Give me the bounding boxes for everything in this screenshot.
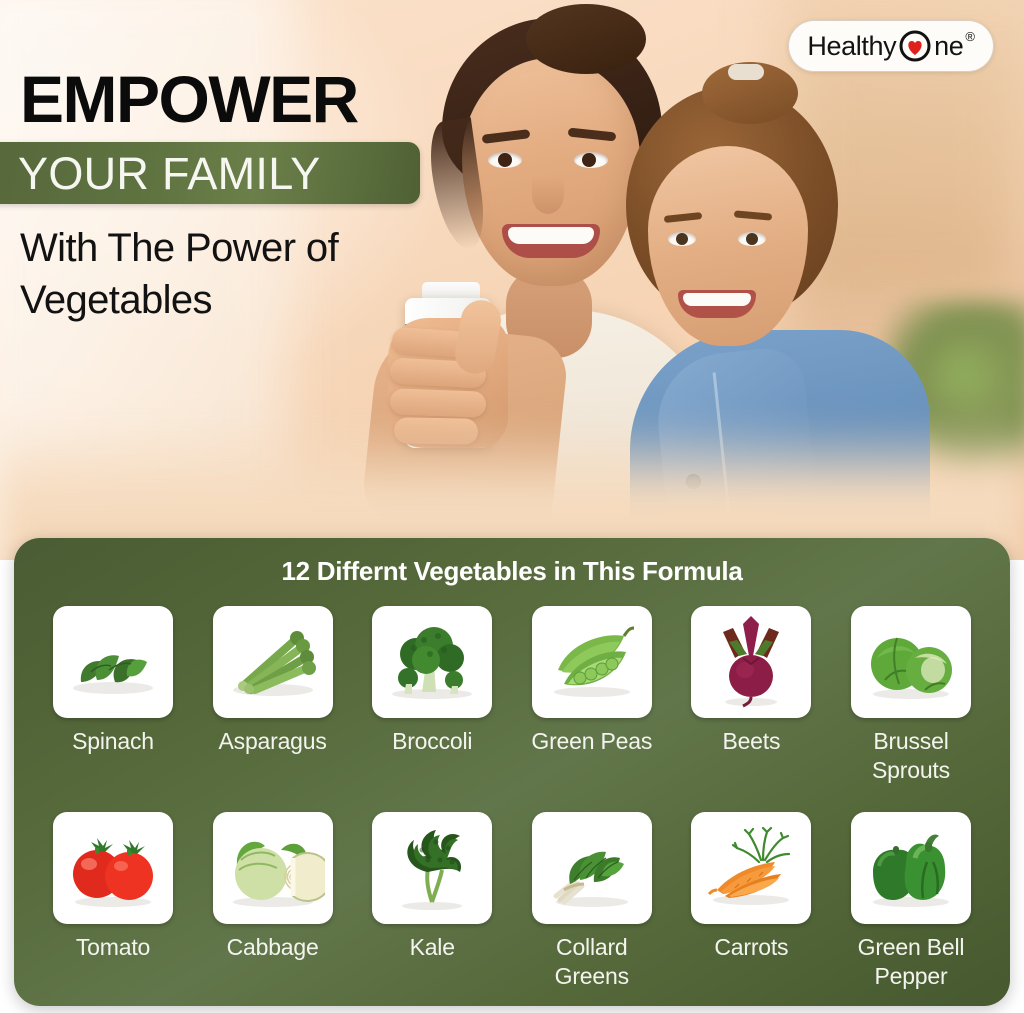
ingredients-panel: 12 Differnt Vegetables in This Formula S… xyxy=(14,538,1010,1006)
mother-smile xyxy=(502,224,600,258)
ingredient-label: Kale xyxy=(410,933,455,962)
green-bell-pepper-icon xyxy=(851,812,971,924)
ingredient-item-beets[interactable]: Beets xyxy=(676,606,826,756)
ingredient-label: Carrots xyxy=(714,933,788,962)
ingredient-row-1: Spinach xyxy=(38,606,986,785)
mother-teeth xyxy=(508,227,594,244)
headline-banner: YOUR FAMILY xyxy=(0,142,420,204)
ingredient-label: Broccoli xyxy=(392,727,472,756)
ingredient-item-tomato[interactable]: Tomato xyxy=(38,812,188,962)
beets-icon xyxy=(691,606,811,718)
daughter-hair-tie xyxy=(728,64,764,80)
ingredient-label: Cabbage xyxy=(227,933,319,962)
ingredient-item-collard-greens[interactable]: Collard Greens xyxy=(517,812,667,991)
daughter-smile xyxy=(678,290,756,318)
ingredient-item-kale[interactable]: Kale xyxy=(357,812,507,962)
headline-banner-label: YOUR FAMILY xyxy=(0,151,321,196)
ingredient-label: Asparagus xyxy=(219,727,327,756)
mother-nose xyxy=(532,176,564,214)
ingredient-item-cabbage[interactable]: Cabbage xyxy=(198,812,348,962)
brand-logo-text-2: ne xyxy=(934,31,963,62)
ingredient-label: Beets xyxy=(722,727,780,756)
ingredient-item-brussel-sprouts[interactable]: Brussel Sprouts xyxy=(836,606,986,785)
brussel-sprouts-icon xyxy=(851,606,971,718)
daughter-teeth xyxy=(683,293,751,306)
ingredient-row-2: Tomato xyxy=(38,812,986,991)
registered-trademark-icon: ® xyxy=(965,29,975,44)
ingredient-label: Spinach xyxy=(72,727,154,756)
ingredient-label: Brussel Sprouts xyxy=(836,727,986,785)
heart-in-o-icon xyxy=(899,30,931,62)
spinach-icon xyxy=(53,606,173,718)
brand-logo-text-1: Healthy xyxy=(807,31,896,62)
ingredients-panel-title: 12 Differnt Vegetables in This Formula xyxy=(14,556,1010,587)
mother-pupil-left xyxy=(498,153,512,167)
cabbage-icon xyxy=(213,812,333,924)
ingredient-label: Collard Greens xyxy=(517,933,667,991)
carrots-icon xyxy=(691,812,811,924)
kale-icon xyxy=(372,812,492,924)
ingredient-item-asparagus[interactable]: Asparagus xyxy=(198,606,348,756)
ingredient-item-green-bell-pepper[interactable]: Green Bell Pepper xyxy=(836,812,986,991)
ingredient-item-spinach[interactable]: Spinach xyxy=(38,606,188,756)
ingredient-label: Tomato xyxy=(76,933,150,962)
daughter-pupil-left xyxy=(676,233,688,245)
tomato-icon xyxy=(53,812,173,924)
headline-subtitle: With The Power of Vegetables xyxy=(20,222,420,326)
ingredient-label: Green Bell Pepper xyxy=(836,933,986,991)
mother-pupil-right xyxy=(582,153,596,167)
ingredient-label: Green Peas xyxy=(531,727,652,756)
green-peas-icon xyxy=(532,606,652,718)
daughter-pupil-right xyxy=(746,233,758,245)
mother-hair-bun xyxy=(526,4,646,74)
product-infographic: FRUITS & VEGGIES 60 VEGAN CAPSULES 30 SE… xyxy=(0,0,1024,1013)
finger-ring xyxy=(390,388,487,417)
asparagus-icon xyxy=(213,606,333,718)
ingredient-item-green-peas[interactable]: Green Peas xyxy=(517,606,667,756)
background-plant-leaf xyxy=(928,330,998,420)
ingredient-item-broccoli[interactable]: Broccoli xyxy=(357,606,507,756)
brand-logo[interactable]: Healthy ne ® xyxy=(788,20,994,72)
ingredient-item-carrots[interactable]: Carrots xyxy=(676,812,826,962)
broccoli-icon xyxy=(372,606,492,718)
collard-greens-icon xyxy=(532,812,652,924)
headline-primary: EMPOWER xyxy=(20,66,358,132)
